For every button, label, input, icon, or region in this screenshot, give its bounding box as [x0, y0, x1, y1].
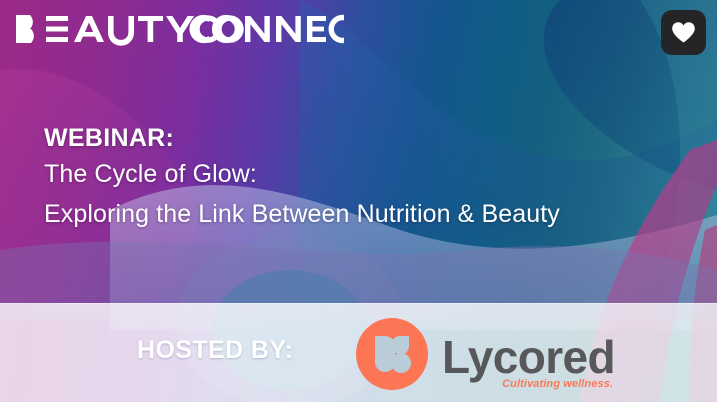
brand-logo[interactable]: [14, 11, 344, 51]
webinar-title-line-2: Exploring the Link Between Nutrition & B…: [44, 195, 560, 235]
headline-block: WEBINAR: The Cycle of Glow: Exploring th…: [44, 122, 560, 234]
webinar-promo-banner: WEBINAR: The Cycle of Glow: Exploring th…: [0, 0, 717, 402]
heart-icon: [671, 21, 696, 44]
sponsor-logo[interactable]: Lycored Cultivating wellness.: [356, 318, 615, 395]
favorite-button[interactable]: [661, 10, 706, 55]
webinar-title-line-1: The Cycle of Glow:: [44, 155, 560, 195]
band-divider: [0, 303, 717, 304]
webinar-kicker: WEBINAR:: [44, 122, 560, 155]
lycored-circle-mark-icon: [356, 318, 428, 395]
sponsor-tagline: Cultivating wellness.: [502, 378, 613, 390]
sponsor-name: Lycored: [442, 331, 615, 383]
sponsor-wordmark-group: Lycored Cultivating wellness.: [442, 334, 615, 380]
hosted-by-label: HOSTED BY:: [137, 336, 293, 365]
